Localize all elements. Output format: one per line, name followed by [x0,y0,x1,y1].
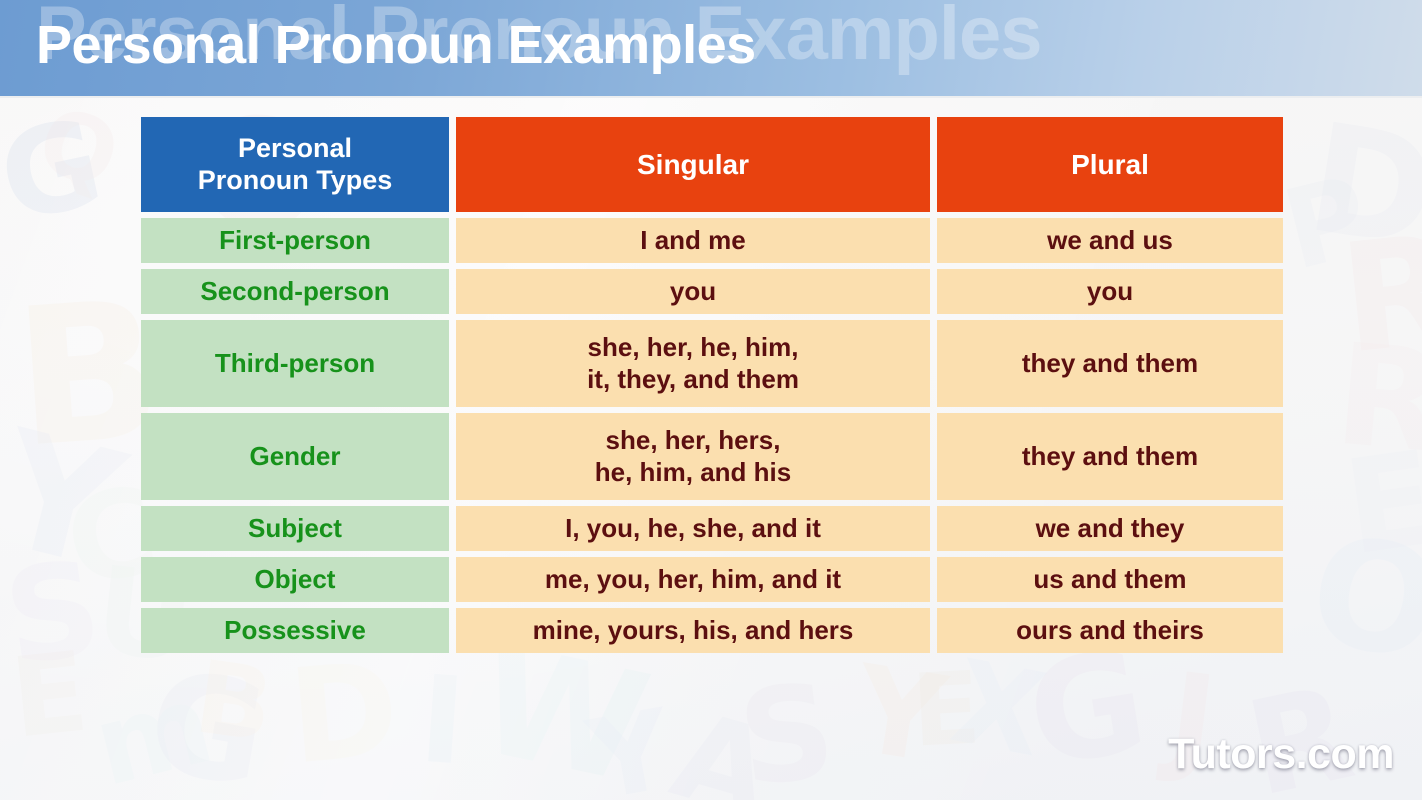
cell-singular: I and me [456,218,930,263]
background-letter: E [909,658,982,761]
background-letter: G [1020,632,1155,788]
cell-singular: mine, yours, his, and hers [456,608,930,653]
cell-pronoun-type: First-person [141,218,449,263]
background-letter: A [661,696,783,800]
background-letter: D [1299,103,1422,271]
tutors-logo: Tutors.com [1168,733,1394,776]
column-header-plural: Plural [937,117,1283,212]
header-band: Personal Pronoun Examples Personal Prono… [0,0,1422,98]
cell-singular: she, her, hers,he, him, and his [456,413,930,500]
background-letter: G [0,103,112,241]
table-row: Objectme, you, her, him, and itus and th… [141,557,1282,602]
column-header-type-line1: Personal [198,133,393,165]
table-row: Second-personyouyou [141,269,1282,314]
table-row: SubjectI, you, he, she, and itwe and the… [141,506,1282,551]
cell-singular: me, you, her, him, and it [456,557,930,602]
background-letter: S [0,542,108,684]
cell-plural: they and them [937,413,1283,500]
cell-plural: they and them [937,320,1283,407]
background-letter: R [1330,326,1422,475]
cell-pronoun-type: Possessive [141,608,449,653]
cell-plural: we and they [937,506,1283,551]
pronoun-table: Personal Pronoun Types Singular Plural F… [141,117,1282,653]
cell-singular-line1: I and me [640,225,745,257]
table-row: First-personI and mewe and us [141,218,1282,263]
cell-plural: ours and theirs [937,608,1283,653]
slide-root: GQBYSUEGmBDIWYASYEXGJRDRREOPQC Personal … [0,0,1422,800]
cell-pronoun-type: Third-person [141,320,449,407]
cell-singular-line1: mine, yours, his, and hers [533,615,854,647]
cell-singular-line1: she, her, hers, [595,425,791,457]
cell-singular-line1: I, you, he, she, and it [565,513,821,545]
background-letter: Y [0,408,135,591]
background-letter: B [189,647,278,757]
column-header-type: Personal Pronoun Types [141,117,449,212]
cell-plural: we and us [937,218,1283,263]
cell-singular-line1: you [670,276,716,308]
background-letter: X [944,645,1053,775]
background-letter: Q [28,94,129,203]
cell-plural: us and them [937,557,1283,602]
cell-singular-line1: me, you, her, him, and it [545,564,841,596]
background-letter: m [84,668,222,800]
table-row: Possessivemine, yours, his, and hersours… [141,608,1282,653]
cell-pronoun-type: Second-person [141,269,449,314]
cell-plural: you [937,269,1283,314]
background-letter: R [1334,214,1422,375]
background-letter: O [1300,514,1422,684]
background-letter: I [416,661,469,784]
cell-singular-line2: he, him, and his [595,457,791,489]
background-letter: Y [847,650,952,782]
column-header-type-line2: Pronoun Types [198,165,393,197]
background-letter: D [285,644,404,783]
table-row: Gendershe, her, hers,he, him, and histhe… [141,413,1282,500]
background-letter: E [6,636,92,753]
table-row: Third-personshe, her, he, him,it, they, … [141,320,1282,407]
cell-pronoun-type: Gender [141,413,449,500]
cell-singular: you [456,269,930,314]
background-letter: S [732,665,841,800]
column-header-singular: Singular [456,117,930,212]
cell-pronoun-type: Subject [141,506,449,551]
cell-singular: I, you, he, she, and it [456,506,930,551]
background-letter: G [139,651,276,800]
cell-singular-line2: it, they, and them [587,364,799,396]
table-header-row: Personal Pronoun Types Singular Plural [141,117,1282,212]
page-title: Personal Pronoun Examples [36,17,756,74]
background-letter: E [1337,432,1422,573]
background-letter: Y [581,694,679,800]
cell-pronoun-type: Object [141,557,449,602]
cell-singular-line1: she, her, he, him, [587,332,799,364]
cell-singular: she, her, he, him,it, they, and them [456,320,930,407]
background-letter: P [1274,160,1379,286]
